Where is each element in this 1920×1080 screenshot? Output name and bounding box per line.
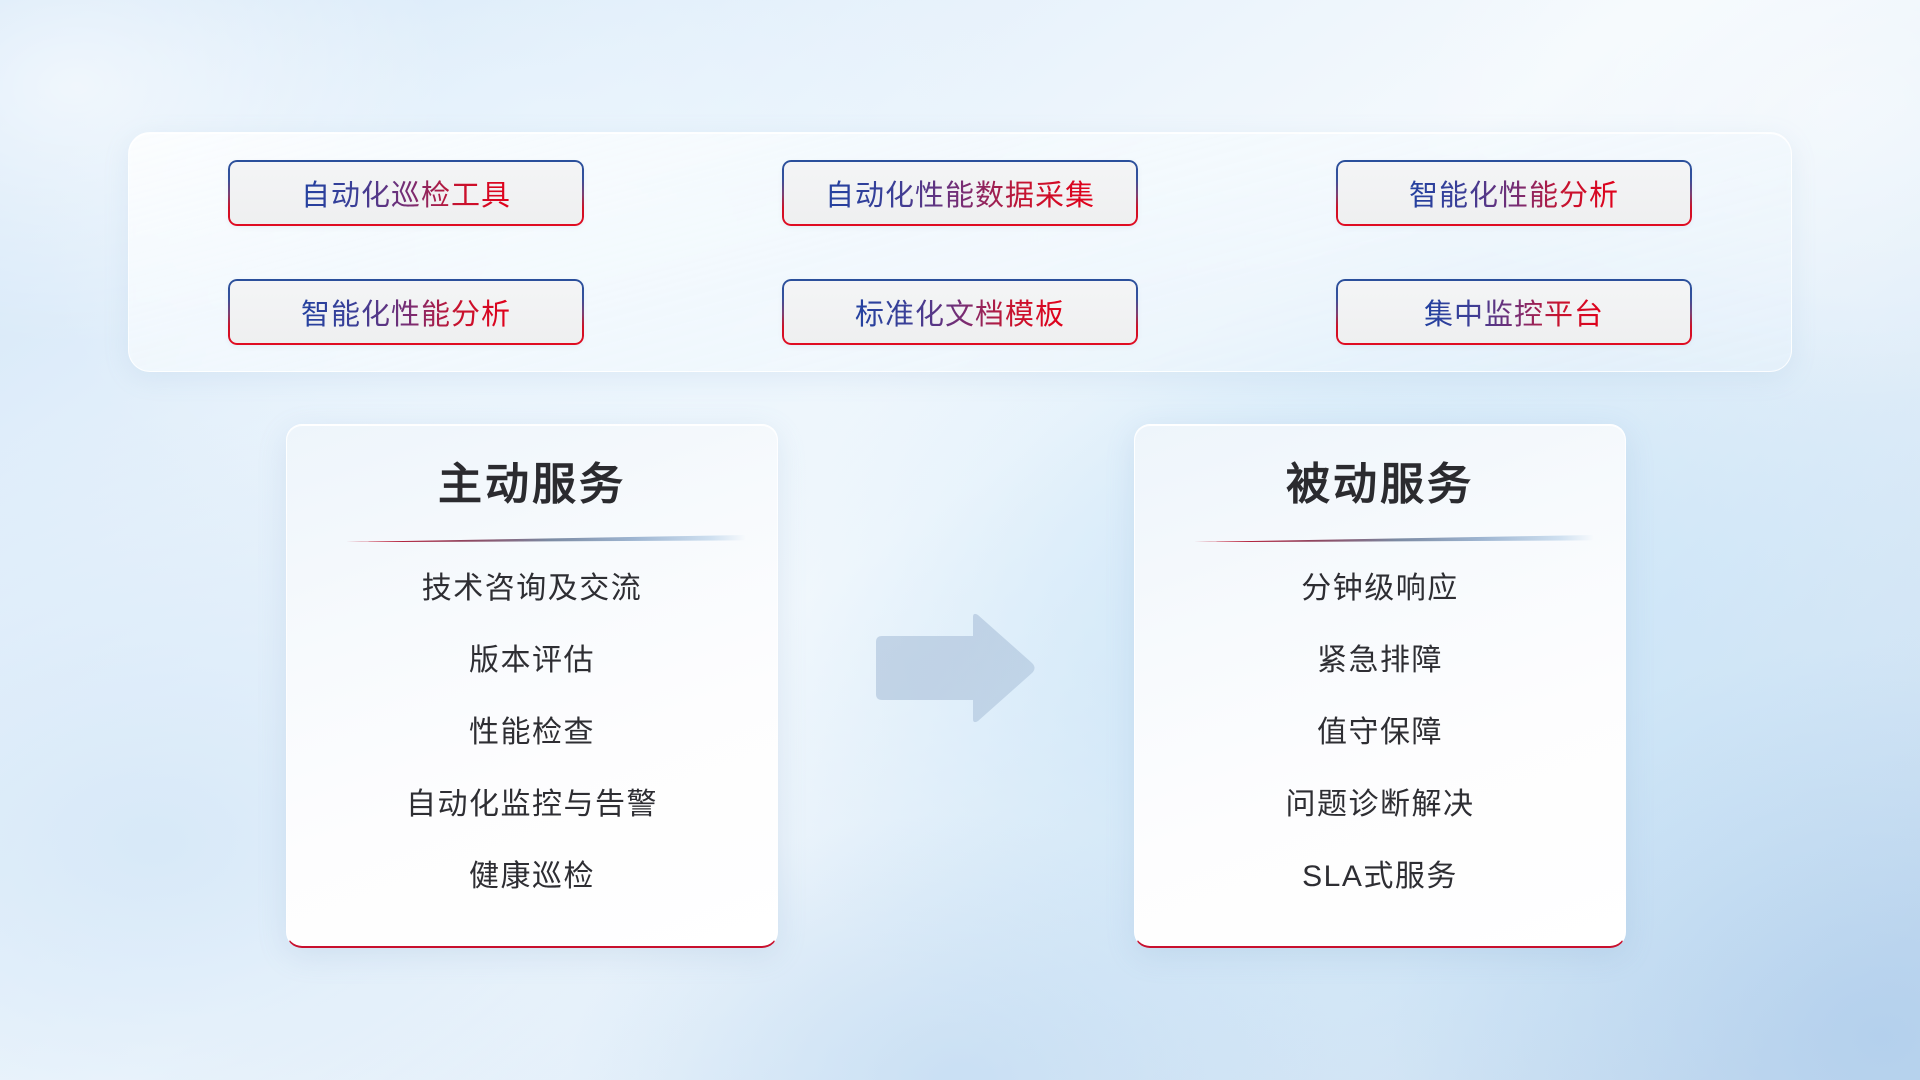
diagram-canvas: 自动化巡检工具 自动化性能数据采集 智能化性能分析 智能化性能分析 标准化文档模… — [0, 0, 1920, 1080]
capability-tags-panel: 自动化巡检工具 自动化性能数据采集 智能化性能分析 智能化性能分析 标准化文档模… — [128, 132, 1792, 372]
capability-tag-label: 自动化性能数据采集 — [825, 172, 1095, 214]
service-item-list: 分钟级响应 紧急排障 值守保障 问题诊断解决 SLA式服务 — [1135, 574, 1625, 892]
service-list-item: 值守保障 — [1317, 718, 1443, 748]
card-title: 主动服务 — [438, 461, 626, 509]
capability-tag[interactable]: 自动化巡检工具 — [228, 160, 584, 226]
service-list-item: 技术咨询及交流 — [422, 574, 643, 604]
capability-tag[interactable]: 集中监控平台 — [1336, 279, 1692, 345]
service-card-passive: 被动服务 分钟级响应 紧急排障 值守保障 问题诊断解决 SLA式服务 — [1134, 424, 1626, 948]
service-list-item: 问题诊断解决 — [1286, 790, 1475, 820]
service-item-list: 技术咨询及交流 版本评估 性能检查 自动化监控与告警 健康巡检 — [287, 574, 777, 892]
capability-tag-label: 自动化巡检工具 — [301, 172, 511, 214]
service-list-item: 健康巡检 — [469, 862, 595, 892]
service-list-item: 紧急排障 — [1317, 646, 1443, 676]
capability-tag-label: 智能化性能分析 — [301, 291, 511, 333]
service-list-item: SLA式服务 — [1302, 862, 1458, 892]
capability-tag[interactable]: 自动化性能数据采集 — [782, 160, 1138, 226]
card-divider — [1166, 533, 1594, 542]
card-title: 被动服务 — [1286, 461, 1474, 509]
capability-tag-label: 集中监控平台 — [1424, 291, 1604, 333]
capability-tag-label: 智能化性能分析 — [1409, 172, 1619, 214]
capability-tag[interactable]: 标准化文档模板 — [782, 279, 1138, 345]
capability-tag-label: 标准化文档模板 — [855, 291, 1065, 333]
service-card-active: 主动服务 技术咨询及交流 版本评估 性能检查 自动化监控与告警 健康巡检 — [286, 424, 778, 948]
service-list-item: 分钟级响应 — [1301, 574, 1459, 604]
capability-tag[interactable]: 智能化性能分析 — [1336, 160, 1692, 226]
capability-tag[interactable]: 智能化性能分析 — [228, 279, 584, 345]
card-divider — [318, 533, 746, 542]
service-list-item: 版本评估 — [469, 646, 595, 676]
service-list-item: 自动化监控与告警 — [406, 790, 658, 820]
service-list-item: 性能检查 — [469, 718, 595, 748]
arrow-right-icon — [872, 612, 1036, 724]
